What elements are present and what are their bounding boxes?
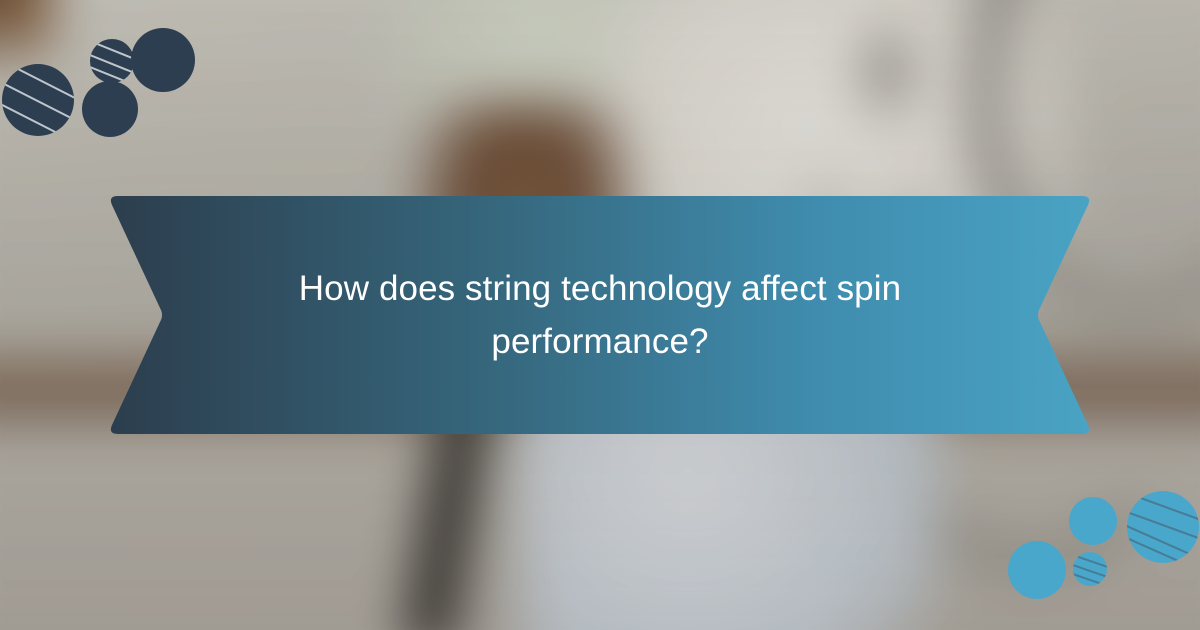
ball-small-striped: [90, 39, 134, 83]
ball-upper-plain: [1069, 497, 1117, 545]
ball-large-striped: [2, 64, 74, 136]
page-title: How does string technology affect spin p…: [278, 262, 922, 368]
ball-seam: [1127, 504, 1199, 545]
ball-small-striped: [1073, 552, 1107, 586]
ball-large-striped: [1127, 491, 1199, 563]
ball-medium-plain: [82, 81, 138, 137]
ball-large-plain: [131, 28, 195, 92]
banner-headline-wrapper: How does string technology affect spin p…: [108, 196, 1092, 434]
ball-seam: [2, 74, 74, 128]
ball-medium-plain: [1008, 541, 1066, 599]
social-card: How does string technology affect spin p…: [0, 0, 1200, 630]
